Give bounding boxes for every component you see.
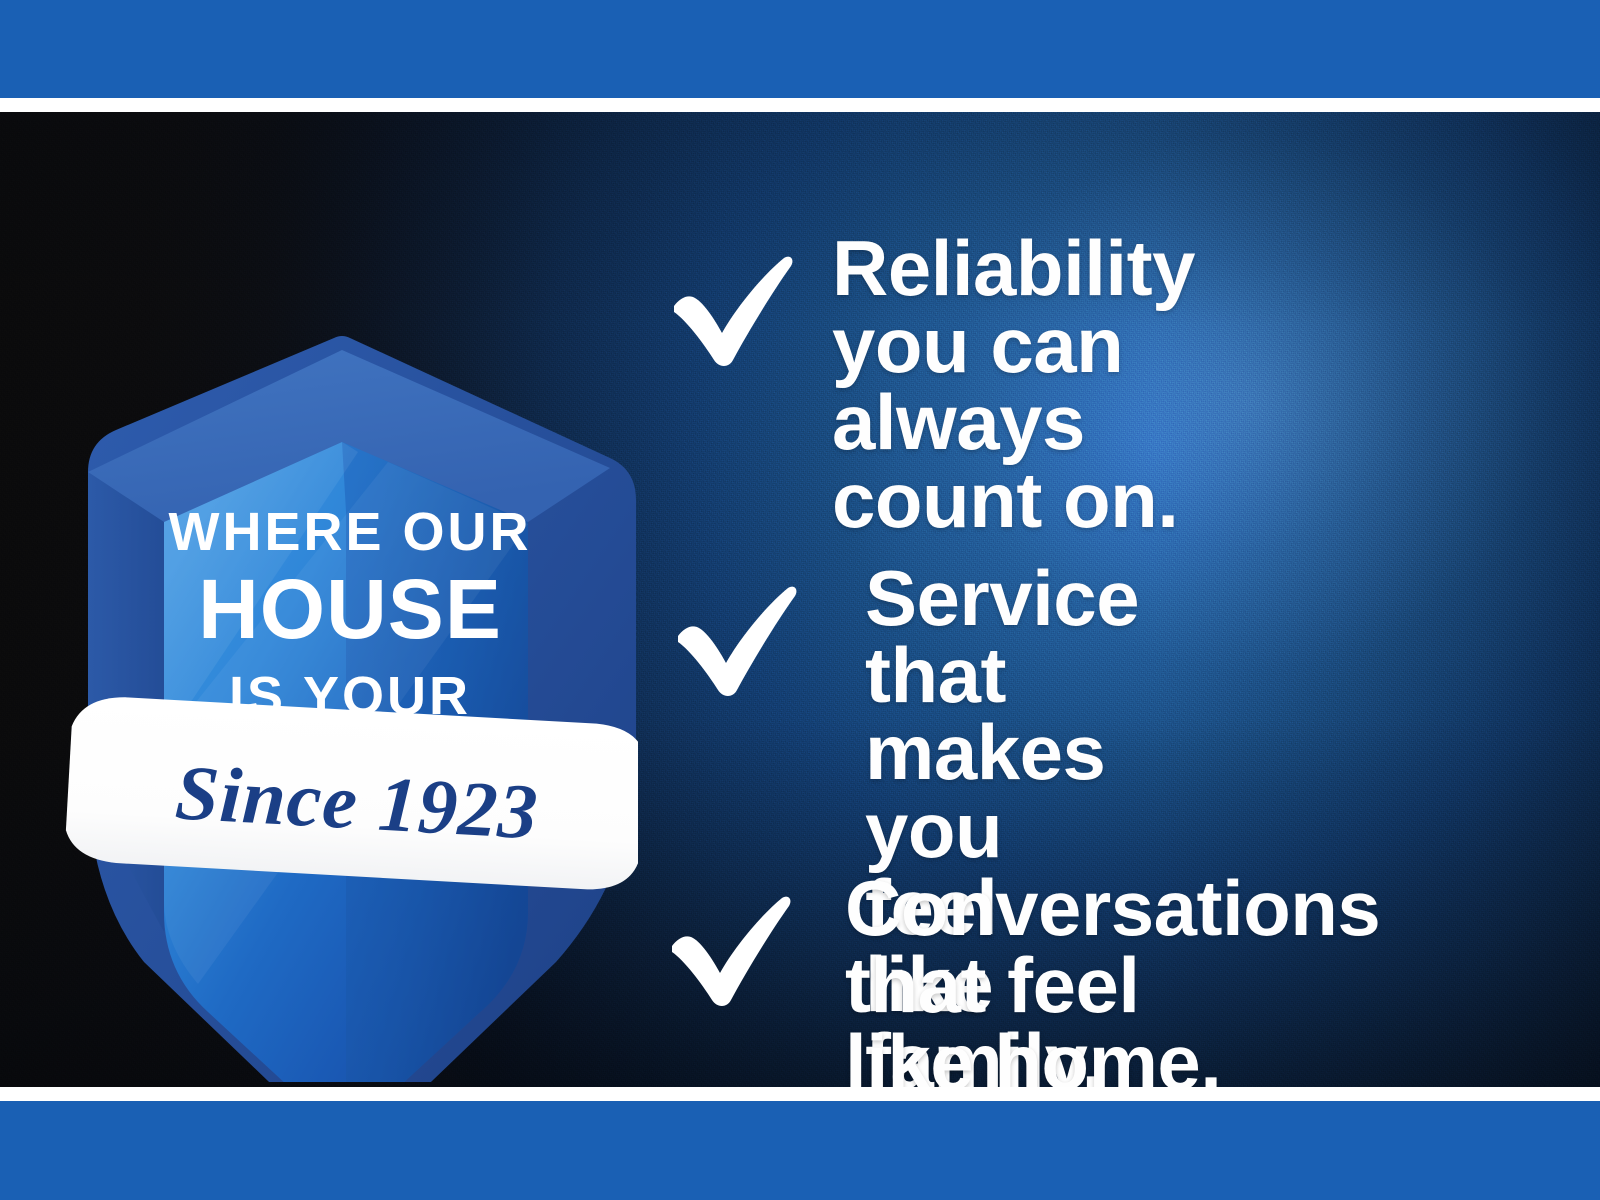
list-item-text: Reliability you can always count on. [832,230,1195,539]
promo-poster: WHERE OUR HOUSE IS YOUR HOUSE Since 1923 [0,0,1600,1200]
check-icon [662,250,802,370]
bottom-white-divider [0,1087,1600,1101]
check-icon [666,580,806,700]
tagline-line-1: WHERE OUR [169,502,532,562]
list-item-text: Conversations that feel like home. [845,870,1380,1087]
shield-badge: WHERE OUR HOUSE IS YOUR HOUSE Since 1923 [58,272,638,1082]
tagline-line-2: HOUSE [198,562,502,656]
check-icon [660,890,800,1010]
poster-stage: WHERE OUR HOUSE IS YOUR HOUSE Since 1923 [0,112,1600,1087]
top-brand-bar [0,0,1600,98]
ribbon-banner: Since 1923 [64,694,638,892]
bottom-brand-bar [0,1101,1600,1200]
top-white-divider [0,98,1600,112]
